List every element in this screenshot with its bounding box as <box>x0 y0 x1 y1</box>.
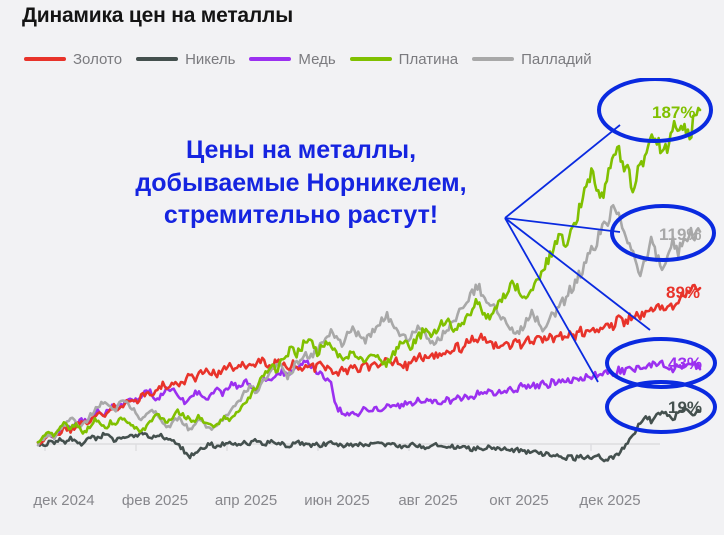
legend-item-1[interactable]: Никель <box>136 51 235 68</box>
legend-swatch-icon <box>136 57 178 61</box>
legend-item-0[interactable]: Золото <box>24 51 122 68</box>
headline-line-2: добываемые Норникелем, <box>96 167 506 200</box>
legend-label: Медь <box>298 51 335 68</box>
chart-page: Динамика цен на металлы ЗолотоНикельМедь… <box>0 0 724 535</box>
legend-item-4[interactable]: Палладий <box>472 51 591 68</box>
legend-swatch-icon <box>472 57 514 61</box>
callout-value-palladium: 119% <box>659 225 702 245</box>
page-title: Динамика цен на металлы <box>22 4 293 28</box>
headline-line-3: стремительно растут! <box>96 199 506 232</box>
legend-swatch-icon <box>24 57 66 61</box>
legend-label: Палладий <box>521 51 591 68</box>
x-tick-label-6: дек 2025 <box>579 492 640 509</box>
leader-line-1 <box>505 218 620 232</box>
chart-legend: ЗолотоНикельМедьПлатинаПалладий <box>24 48 592 70</box>
legend-item-2[interactable]: Медь <box>249 51 335 68</box>
legend-label: Никель <box>185 51 235 68</box>
callout-value-platinum: 187% <box>652 103 695 123</box>
x-tick-label-2: апр 2025 <box>215 492 277 509</box>
legend-label: Золото <box>73 51 122 68</box>
callout-value-gold: 89% <box>666 283 700 303</box>
callout-value-nickel: 19% <box>668 398 702 418</box>
x-tick-label-4: авг 2025 <box>398 492 457 509</box>
leader-line-3 <box>505 218 598 382</box>
leader-line-2 <box>505 218 650 330</box>
x-tick-label-3: июн 2025 <box>304 492 369 509</box>
legend-swatch-icon <box>249 57 291 61</box>
x-tick-label-0: дек 2024 <box>33 492 94 509</box>
headline-line-1: Цены на металлы, <box>96 134 506 167</box>
legend-item-3[interactable]: Платина <box>350 51 458 68</box>
x-axis: дек 2024фев 2025апр 2025июн 2025авг 2025… <box>0 492 724 518</box>
headline-callout: Цены на металлы, добываемые Норникелем, … <box>96 134 506 232</box>
x-tick-label-1: фев 2025 <box>122 492 188 509</box>
callout-value-copper: 43% <box>668 354 702 374</box>
leader-line-0 <box>505 125 620 218</box>
legend-label: Платина <box>399 51 458 68</box>
x-tick-label-5: окт 2025 <box>489 492 548 509</box>
legend-swatch-icon <box>350 57 392 61</box>
